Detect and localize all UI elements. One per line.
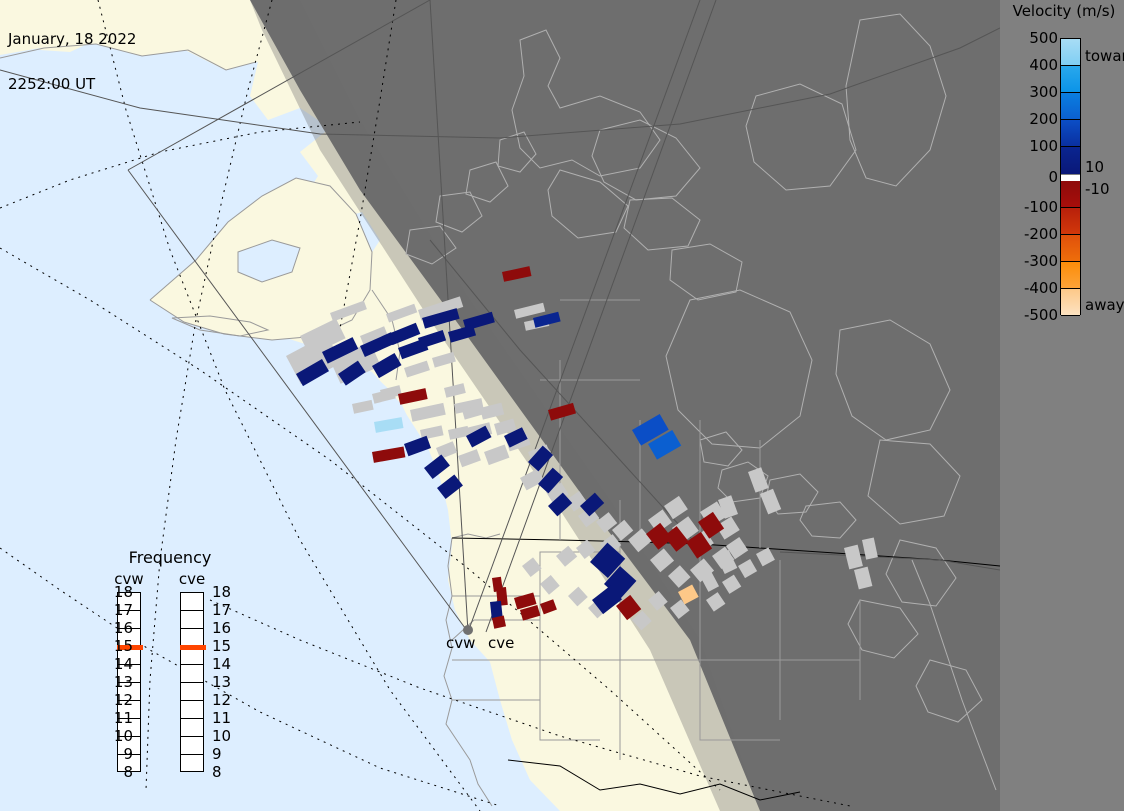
frequency-scale-label: 10 (212, 727, 231, 745)
colorbar-segment-5 (1061, 181, 1080, 208)
frequency-scale-label: 18 (212, 583, 231, 601)
frequency-scale-label: 13 (95, 673, 133, 691)
frequency-cell (181, 719, 203, 737)
colorbar-tick-200: 200 (1029, 110, 1058, 128)
colorbar-segment-0 (1061, 39, 1080, 66)
frequency-scale-label: 14 (212, 655, 231, 673)
frequency-scale-label: 15 (212, 637, 231, 655)
frequency-legend-title: Frequency (95, 548, 245, 567)
frequency-cell (181, 683, 203, 701)
colorbar-title: Velocity (m/s) (1004, 2, 1124, 20)
frequency-marker-cve (180, 645, 206, 650)
colorbar-tick-400: 400 (1029, 56, 1058, 74)
frequency-scale-label: 15 (95, 637, 133, 655)
colorbar-segment-8 (1061, 262, 1080, 289)
velocity-colorbar: Velocity (m/s) 5004003002001000-100-200-… (1000, 0, 1124, 811)
colorbar-divider (1061, 315, 1080, 316)
colorbar-tick--400: -400 (1024, 279, 1058, 297)
colorbar-tick-100: 100 (1029, 137, 1058, 155)
colorbar-segment-9 (1061, 289, 1080, 316)
colorbar-segment-7 (1061, 235, 1080, 262)
frequency-cell (181, 611, 203, 629)
title-time: 2252:00 UT (8, 77, 136, 92)
frequency-scale-label: 10 (95, 727, 133, 745)
colorbar-segment-4 (1061, 147, 1080, 174)
frequency-cell (181, 701, 203, 719)
colorbar-tick--200: -200 (1024, 225, 1058, 243)
page-title: January, 18 2022 2252:00 UT (8, 2, 136, 122)
title-date: January, 18 2022 (8, 32, 136, 47)
colorbar-segment-1 (1061, 66, 1080, 93)
site-label-cvw: cvw (446, 634, 475, 652)
frequency-scale-label: 16 (95, 619, 133, 637)
frequency-column-cve: cve (180, 592, 204, 772)
colorbar-tick-500: 500 (1029, 29, 1058, 47)
frequency-scale-label: 9 (95, 745, 133, 763)
colorbar-toward-label: toward (1085, 47, 1124, 65)
frequency-column-label-cve: cve (179, 570, 205, 588)
frequency-scale-label: 13 (212, 673, 231, 691)
colorbar-segment-3 (1061, 120, 1080, 147)
colorbar-neg-threshold-label: -10 (1085, 180, 1110, 198)
colorbar-tick--100: -100 (1024, 198, 1058, 216)
frequency-cell (181, 737, 203, 755)
frequency-cell (181, 665, 203, 683)
colorbar-segment-6 (1061, 208, 1080, 235)
colorbar-tick-0: 0 (1048, 168, 1058, 186)
frequency-scale-label: 8 (95, 763, 133, 781)
frequency-scale-label: 8 (212, 763, 222, 781)
frequency-cell (181, 593, 203, 611)
frequency-scale-label: 17 (212, 601, 231, 619)
colorbar-segment-2 (1061, 93, 1080, 120)
frequency-scale-label: 18 (95, 583, 133, 601)
frequency-bar-cve (180, 592, 204, 772)
frequency-cell (181, 755, 203, 773)
frequency-scale-label: 16 (212, 619, 231, 637)
frequency-scale-label: 12 (212, 691, 231, 709)
frequency-scale-label: 11 (212, 709, 231, 727)
frequency-legend: Frequency cvw cve 1817161514131211109818… (95, 548, 245, 788)
site-label-cve: cve (488, 634, 514, 652)
colorbar-tick--500: -500 (1024, 306, 1058, 324)
frequency-scale-label: 11 (95, 709, 133, 727)
superdarn-velocity-map: cvw cve Frequency cvw cve 18171615141312… (0, 0, 1124, 811)
colorbar-away-label: away (1085, 296, 1124, 314)
map-plot-area[interactable]: cvw cve Frequency cvw cve 18171615141312… (0, 0, 1000, 811)
colorbar-tick--300: -300 (1024, 252, 1058, 270)
frequency-scale-label: 12 (95, 691, 133, 709)
colorbar-pos-threshold-label: 10 (1085, 158, 1104, 176)
frequency-scale-label: 14 (95, 655, 133, 673)
colorbar-gradient[interactable] (1060, 38, 1081, 315)
colorbar-tick-300: 300 (1029, 83, 1058, 101)
frequency-scale-label: 17 (95, 601, 133, 619)
frequency-scale-label: 9 (212, 745, 222, 763)
